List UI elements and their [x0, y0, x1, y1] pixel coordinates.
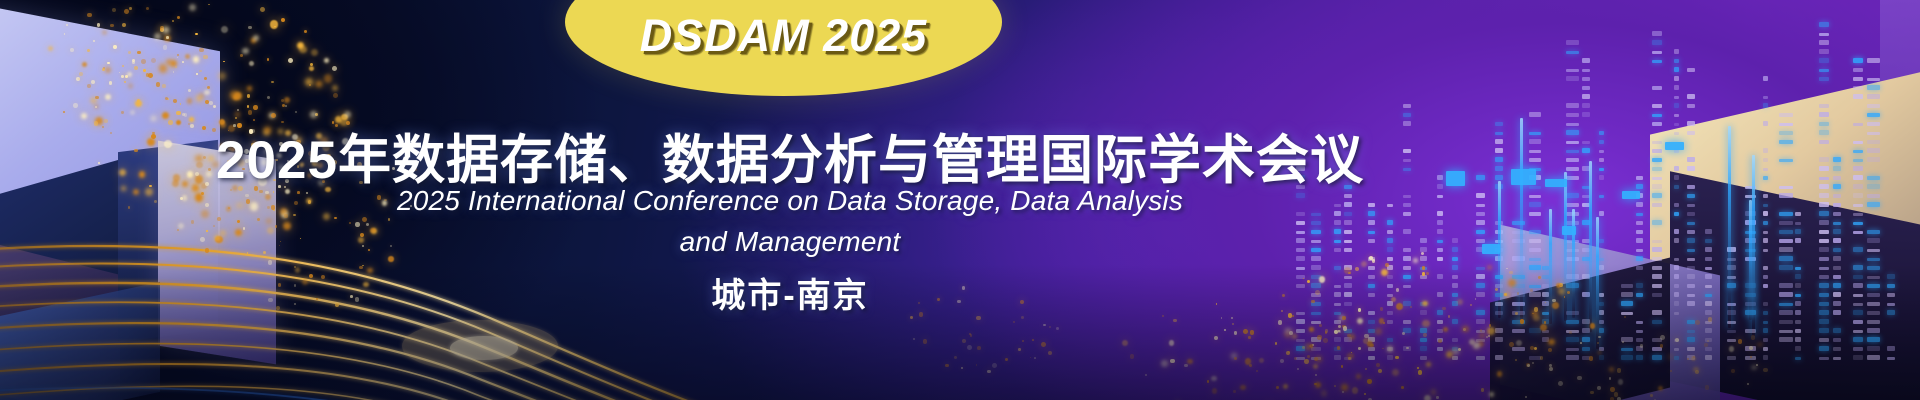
conference-banner: DSDAM 2025 2025年数据存储、数据分析与管理国际学术会议 2025 …	[0, 0, 1920, 400]
city-label: 城市-南京	[0, 268, 1580, 317]
geometric-prism-icon	[1670, 171, 1920, 400]
geometric-prism-icon	[1880, 0, 1920, 219]
subtitle-line-2: and Management	[0, 226, 1580, 258]
geometric-prism-icon	[1650, 65, 1920, 314]
subtitle-line-1: 2025 International Conference on Data St…	[0, 185, 1580, 217]
badge-label: DSDAM 2025	[640, 13, 928, 96]
geometric-prism-icon	[1810, 130, 1920, 400]
page-title: 2025年数据存储、数据分析与管理国际学术会议	[0, 118, 1580, 194]
conference-acronym-badge: DSDAM 2025	[565, 0, 1002, 96]
